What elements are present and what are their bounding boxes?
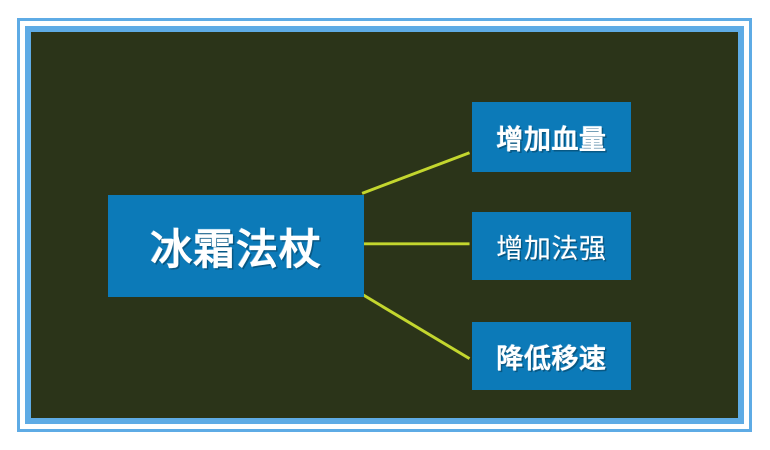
connector-root-to-reduce-speed (362, 294, 469, 358)
mindmap-child-node-increase-hp[interactable]: 增加血量 (472, 102, 631, 172)
mindmap-child-node-increase-magic-power[interactable]: 增加法强 (472, 212, 631, 280)
outer-border-frame: 冰霜法杖 增加血量 增加法强 降低移速 (17, 18, 752, 432)
connector-root-to-increase-hp (362, 153, 469, 194)
mindmap-child-node-reduce-move-speed-label: 降低移速 (496, 337, 606, 376)
mindmap-root-node[interactable]: 冰霜法杖 (108, 195, 364, 297)
mindmap-root-node-label: 冰霜法杖 (150, 216, 321, 277)
inner-border-frame: 冰霜法杖 增加血量 增加法强 降低移速 (25, 26, 744, 424)
mindmap-child-node-increase-hp-label: 增加血量 (496, 118, 606, 157)
mindmap-child-node-increase-magic-power-label: 增加法强 (496, 227, 606, 266)
mindmap-page: 冰霜法杖 增加血量 增加法强 降低移速 (0, 0, 770, 450)
mindmap-child-node-reduce-move-speed[interactable]: 降低移速 (472, 322, 631, 390)
diagram-canvas: 冰霜法杖 增加血量 增加法强 降低移速 (31, 32, 738, 418)
